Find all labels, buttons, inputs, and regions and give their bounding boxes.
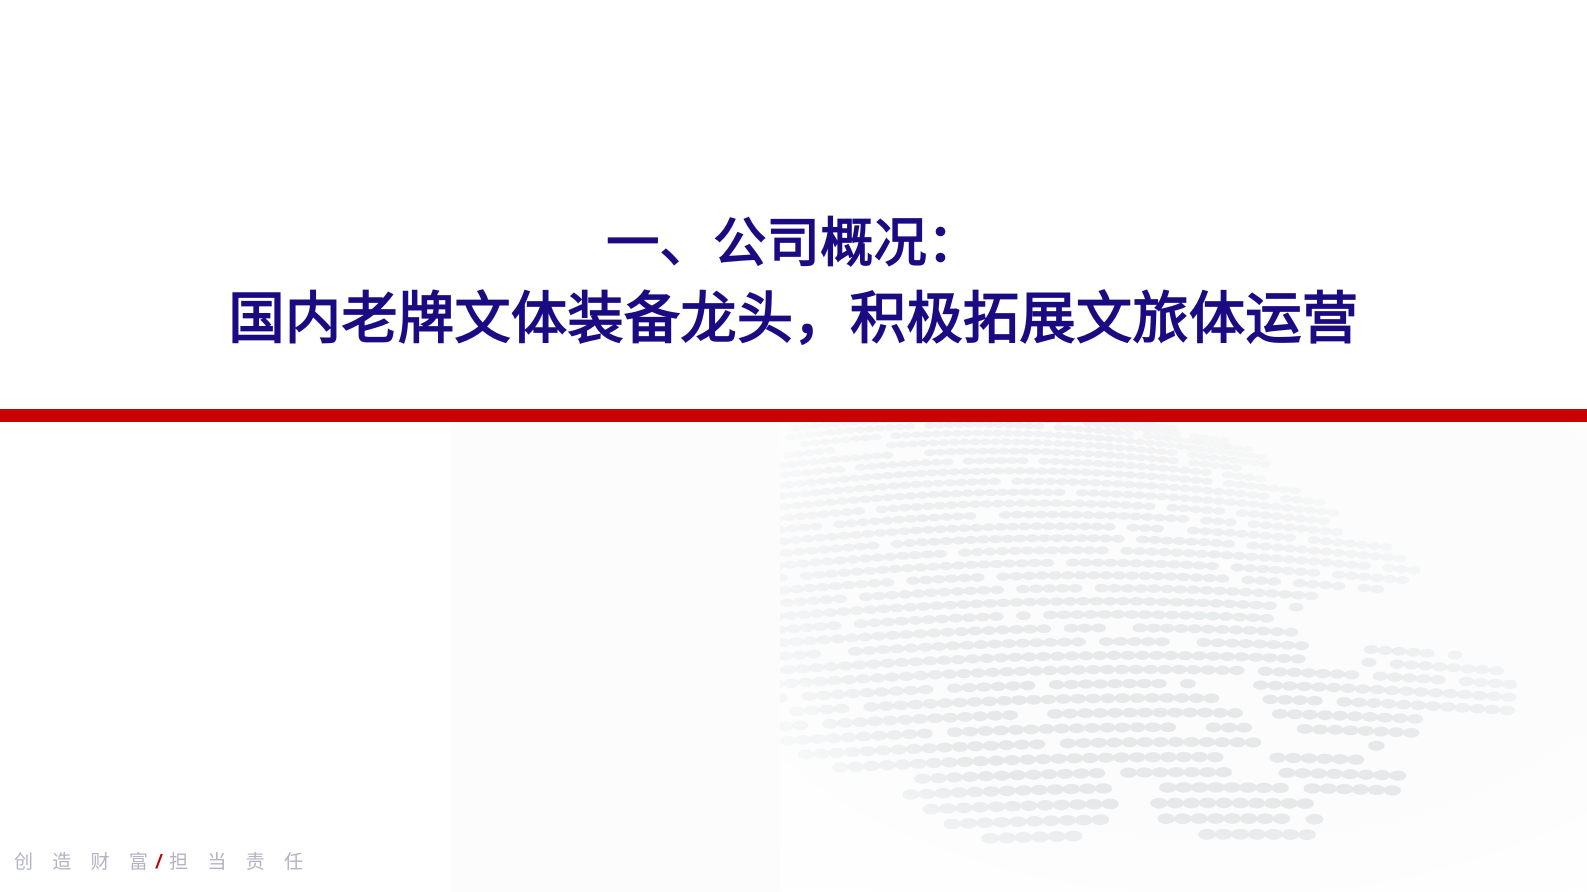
slide-title: 一、公司概况： 国内老牌文体装备龙头，积极拓展文旅体运营 bbox=[0, 206, 1587, 356]
halftone-world-map-globe-decoration bbox=[780, 420, 1587, 892]
red-divider-rule bbox=[0, 409, 1587, 422]
presentation-slide: 一、公司概况： 国内老牌文体装备龙头，积极拓展文旅体运营 创 造 财 富 / 担… bbox=[0, 0, 1587, 892]
footer-slogan-right: 担 当 责 任 bbox=[169, 847, 310, 874]
title-line-primary: 一、公司概况： bbox=[0, 206, 1587, 281]
footer-slogan-separator: / bbox=[155, 852, 169, 874]
footer-slogan: 创 造 财 富 / 担 当 责 任 bbox=[14, 847, 310, 874]
footer-slogan-left: 创 造 财 富 bbox=[14, 847, 155, 874]
background-panel bbox=[451, 422, 1587, 892]
title-line-secondary: 国内老牌文体装备龙头，积极拓展文旅体运营 bbox=[0, 281, 1587, 356]
